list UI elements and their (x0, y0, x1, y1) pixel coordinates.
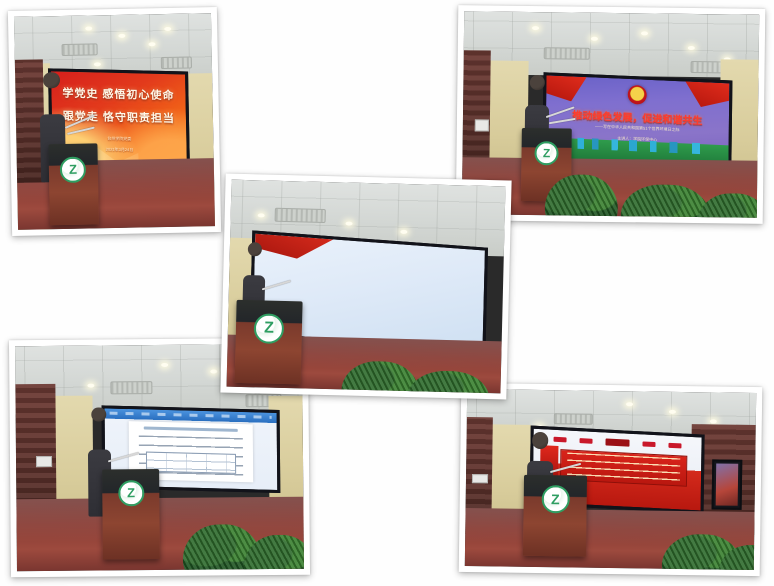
ceiling-light-icon (710, 419, 717, 423)
podium-logo-icon: Z (118, 480, 144, 506)
ceiling-light-icon (400, 229, 407, 233)
podium-logo-icon: Z (534, 141, 558, 165)
wall-sign (472, 474, 489, 483)
ceiling-light-icon (626, 402, 633, 406)
ceiling-light-icon (210, 369, 217, 373)
wall-sign (36, 456, 52, 467)
podium: Z (48, 143, 99, 225)
side-display-monitor (711, 460, 742, 510)
ac-vent-icon (553, 413, 593, 424)
photo-center[interactable]: 兴廉政清风 促科研发展 贾红梅 2020.3.30 Z (220, 174, 511, 400)
wall-sign (475, 119, 489, 131)
podium: Z (523, 475, 588, 557)
podium-logo-icon: Z (254, 314, 285, 345)
speaker-head (532, 432, 549, 449)
header-mark (668, 443, 681, 448)
ceiling-light-icon (94, 62, 101, 66)
header-mark (642, 442, 655, 447)
national-emblem-icon (628, 85, 647, 105)
ac-vent-icon (543, 47, 589, 60)
photo-top-left-image: 学党史 感悟初心使命 跟党走 恪守职责担当 台州学院党委 2021年3月24日 … (14, 13, 215, 230)
photo-bottom-right-image: Z (465, 389, 756, 570)
photo-top-left[interactable]: 学党史 感悟初心使命 跟党走 恪守职责担当 台州学院党委 2021年3月24日 … (8, 7, 221, 236)
ceiling-light-icon (85, 26, 92, 30)
ceiling-light-icon (669, 410, 676, 414)
ac-vent-icon (274, 208, 326, 224)
conference-room-scene: 学党史 感悟初心使命 跟党走 恪守职责担当 台州学院党委 2021年3月24日 … (14, 13, 215, 230)
document-heading-bar (144, 426, 238, 432)
flag-right-decor (685, 81, 729, 108)
conference-room-scene: 兴廉政清风 促科研发展 贾红梅 2020.3.30 Z (227, 180, 506, 394)
ac-vent-icon (110, 381, 152, 395)
ceiling-light-icon (164, 27, 171, 31)
speaker-head (91, 407, 106, 422)
ceiling-light-icon (148, 42, 155, 46)
collage-canvas: 学党史 感悟初心使命 跟党走 恪守职责担当 台州学院党委 2021年3月24日 … (0, 0, 774, 586)
ac-vent-icon (62, 43, 98, 56)
photo-center-image: 兴廉政清风 促科研发展 贾红梅 2020.3.30 Z (227, 180, 506, 394)
podium: Z (102, 469, 160, 559)
document-table (146, 452, 235, 474)
slide-title-mark (605, 439, 629, 447)
photo-bottom-right[interactable]: Z (459, 383, 763, 576)
podium-logo-icon: Z (60, 156, 86, 182)
podium: Z (235, 300, 303, 384)
ac-vent-icon (161, 56, 193, 69)
podium-logo-icon: Z (541, 485, 569, 513)
header-mark (553, 437, 566, 442)
header-mark (579, 438, 592, 443)
flag-left-decor (546, 75, 587, 102)
conference-room-scene: Z (465, 389, 756, 570)
